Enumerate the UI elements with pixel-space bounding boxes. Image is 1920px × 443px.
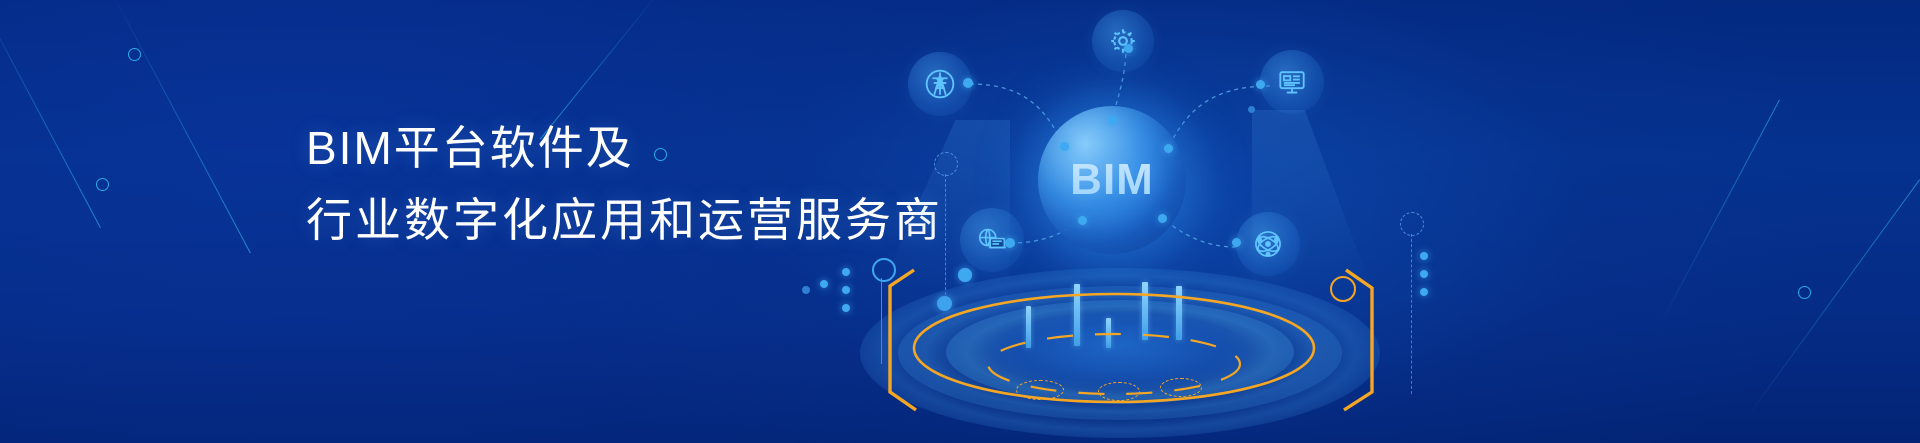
dot-column-left-dot <box>842 304 850 312</box>
headline-line-2: 行业数字化应用和运营服务商 <box>306 184 943 256</box>
stem-line-right <box>1411 234 1412 394</box>
dot-column-right-dot <box>1420 270 1428 278</box>
dot-column-right <box>1420 252 1428 296</box>
floating-dot-a <box>820 280 828 288</box>
decor-diagonal-line-5 <box>1743 179 1920 422</box>
floating-dot-b <box>958 268 972 282</box>
dot-column-left-dot <box>842 268 850 276</box>
bim-illustration: BIM <box>850 0 1410 443</box>
amber-circle-right <box>1330 276 1356 302</box>
decor-circle-1 <box>128 48 141 61</box>
decor-diagonal-line-4 <box>1657 100 1780 330</box>
dot-column-right-dot <box>1420 288 1428 296</box>
banner-root: BIM平台软件及 行业数字化应用和运营服务商 BIM <box>0 0 1920 443</box>
dot-column-left <box>842 268 850 312</box>
decor-diagonal-line-2 <box>0 0 101 228</box>
dot-column-right-dot <box>1420 252 1428 260</box>
amber-brackets <box>850 0 1410 443</box>
headline-line-1: BIM平台软件及 <box>306 112 943 184</box>
floating-dot-c <box>802 286 810 294</box>
dot-column-left-dot <box>842 286 850 294</box>
decor-circle-2 <box>96 178 109 191</box>
decor-circle-4 <box>1798 286 1811 299</box>
decor-diagonal-line-1 <box>109 0 251 253</box>
headline: BIM平台软件及 行业数字化应用和运营服务商 <box>306 112 943 256</box>
